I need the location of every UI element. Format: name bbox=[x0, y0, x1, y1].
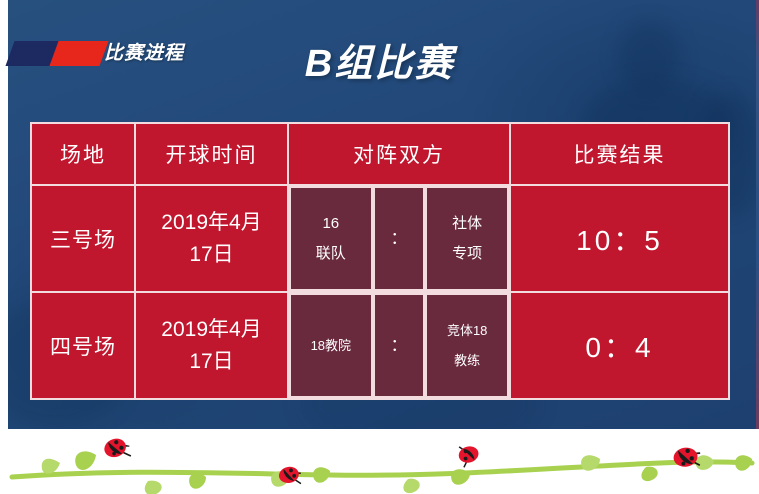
leaf-icon bbox=[145, 481, 162, 494]
page-title: B组比赛 bbox=[0, 32, 759, 87]
matchup-separator: ： bbox=[373, 186, 426, 291]
cell-score: 10：5 bbox=[510, 185, 729, 292]
footer-decoration bbox=[0, 429, 759, 494]
cell-venue: 三号场 bbox=[31, 185, 135, 292]
table-row: 三号场 2019年4月 17日 16 联队 ： bbox=[31, 185, 729, 292]
column-header-kickoff-time: 开球时间 bbox=[135, 123, 288, 185]
table-row: 四号场 2019年4月 17日 18教院 ： bbox=[31, 292, 729, 399]
match-results-table: 场地 开球时间 对阵双方 比赛结果 三号场 2019年4月 17日 bbox=[30, 122, 730, 400]
team-a: 18教院 bbox=[289, 293, 373, 398]
team-a-line-1: 18教院 bbox=[311, 331, 351, 361]
team-b: 竞体18 教练 bbox=[425, 293, 509, 398]
kickoff-date-line-1: 2019年4月 bbox=[136, 314, 287, 346]
matchup-wrapper: 16 联队 ： 社体 专项 bbox=[289, 186, 509, 291]
cell-kickoff-time: 2019年4月 17日 bbox=[135, 292, 288, 399]
kickoff-date-line-2: 17日 bbox=[136, 346, 287, 378]
team-b-line-2: 教练 bbox=[454, 346, 480, 376]
cell-matchup: 18教院 ： 竞体18 教练 bbox=[288, 292, 510, 399]
leaf-icon bbox=[189, 473, 206, 488]
vine-stem bbox=[12, 462, 752, 477]
matchup-separator: ： bbox=[373, 293, 426, 398]
vine-illustration bbox=[0, 429, 759, 494]
leaf-icon bbox=[696, 455, 714, 470]
cell-score: 0：4 bbox=[510, 292, 729, 399]
leaf-icon bbox=[735, 455, 752, 470]
team-b-line-1: 竞体18 bbox=[447, 316, 487, 346]
leaf-icon bbox=[42, 459, 60, 474]
ladybug-icon bbox=[102, 435, 133, 464]
team-b-line-2: 专项 bbox=[452, 239, 482, 269]
cell-kickoff-time: 2019年4月 17日 bbox=[135, 185, 288, 292]
matchup-wrapper: 18教院 ： 竞体18 教练 bbox=[289, 293, 509, 398]
team-b-line-1: 社体 bbox=[452, 209, 482, 239]
leaf-icon bbox=[641, 467, 657, 481]
column-header-venue: 场地 bbox=[31, 123, 135, 185]
ladybug-icon bbox=[456, 442, 481, 468]
cell-venue: 四号场 bbox=[31, 292, 135, 399]
team-a: 16 联队 bbox=[289, 186, 373, 291]
leaf-icon bbox=[451, 469, 470, 484]
kickoff-date-line-1: 2019年4月 bbox=[136, 207, 287, 239]
column-header-matchup: 对阵双方 bbox=[288, 123, 510, 185]
leaf-icon bbox=[313, 467, 330, 482]
team-a-line-2: 联队 bbox=[316, 239, 346, 269]
leaf-icon bbox=[403, 479, 419, 493]
column-header-result: 比赛结果 bbox=[510, 123, 729, 185]
table-body: 三号场 2019年4月 17日 16 联队 ： bbox=[31, 185, 729, 399]
table-header: 场地 开球时间 对阵双方 比赛结果 bbox=[31, 123, 729, 185]
slide-root: 比赛进程 B组比赛 场地 开球时间 对阵双方 比赛结果 三号场 2019年4月 … bbox=[0, 0, 759, 494]
slide-stage: 比赛进程 B组比赛 场地 开球时间 对阵双方 比赛结果 三号场 2019年4月 … bbox=[0, 0, 759, 429]
cell-matchup: 16 联队 ： 社体 专项 bbox=[288, 185, 510, 292]
leaf-icon bbox=[75, 451, 96, 470]
kickoff-date-line-2: 17日 bbox=[136, 239, 287, 271]
team-a-line-1: 16 bbox=[322, 209, 339, 239]
table-header-row: 场地 开球时间 对阵双方 比赛结果 bbox=[31, 123, 729, 185]
team-b: 社体 专项 bbox=[425, 186, 509, 291]
